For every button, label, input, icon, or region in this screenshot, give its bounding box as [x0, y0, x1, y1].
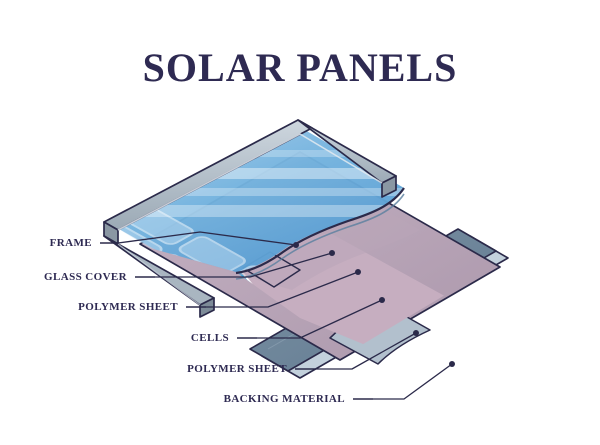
- leader-dot-glass-cover: [329, 250, 335, 256]
- label-glass-cover: GLASS COVER: [0, 271, 127, 283]
- leader-dot-cells: [379, 297, 385, 303]
- leader-path-backing-material: [373, 364, 452, 399]
- label-frame: FRAME: [0, 237, 92, 249]
- label-cells: CELLS: [0, 332, 229, 344]
- label-polymer-sheet-top: POLYMER SHEET: [0, 301, 178, 313]
- leader-dot-polymer-sheet-top: [355, 269, 361, 275]
- diagram-canvas: SOLAR PANELS: [0, 0, 600, 440]
- page-title: SOLAR PANELS: [0, 44, 600, 91]
- label-backing-material: BACKING MATERIAL: [0, 393, 345, 405]
- label-polymer-sheet-bot: POLYMER SHEET: [0, 363, 287, 375]
- leader-backing-material: [353, 361, 455, 399]
- leader-dot-frame: [293, 242, 299, 248]
- leader-dot-backing-material: [449, 361, 455, 367]
- leader-dot-polymer-sheet-bot: [413, 330, 419, 336]
